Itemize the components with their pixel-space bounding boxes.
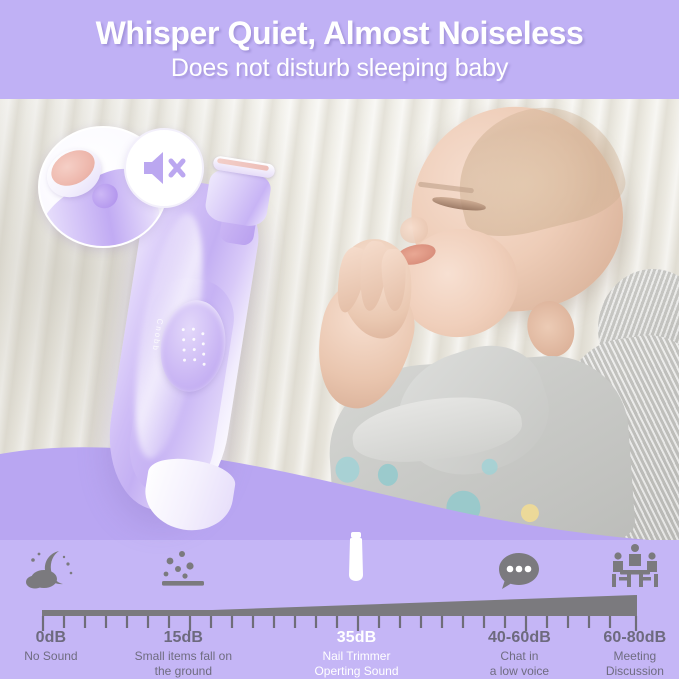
- trimmer-base: [140, 454, 238, 537]
- page-subtitle: Does not disturb sleeping baby: [171, 55, 508, 83]
- scale-db-value: 15dB: [103, 628, 263, 648]
- nail-trimmer-icon: [345, 531, 367, 598]
- scale-ruler: [0, 590, 679, 632]
- scale-db-value: 60-80dB: [555, 628, 679, 648]
- scale-label-row: 0dB No Sound 15dB Small items fall onthe…: [0, 628, 679, 679]
- scale-label-meeting: 60-80dB MeetingDiscussion: [555, 628, 679, 679]
- scale-label-nail-trimmer: 35dB Nail TrimmerOperting Sound: [276, 628, 436, 679]
- scale-db-desc: Small items fall onthe ground: [103, 649, 263, 679]
- scale-icon-row: [0, 532, 679, 598]
- decibel-scale: 0dB No Sound 15dB Small items fall onthe…: [0, 532, 679, 679]
- mute-badge: [124, 128, 204, 208]
- page-title: Whisper Quiet, Almost Noiseless: [96, 17, 584, 50]
- mute-speaker-icon: [140, 148, 188, 188]
- scale-db-desc: MeetingDiscussion: [555, 649, 679, 679]
- trimmer-dial-texture: [174, 324, 214, 373]
- header-banner: Whisper Quiet, Almost Noiseless Does not…: [0, 0, 679, 99]
- product-detail-inset: [38, 126, 208, 246]
- scale-db-value: 35dB: [276, 628, 436, 648]
- scale-db-desc: Nail TrimmerOperting Sound: [276, 649, 436, 679]
- product-infographic: Whisper Quiet, Almost Noiseless Does not…: [0, 0, 679, 679]
- scale-label-small-items: 15dB Small items fall onthe ground: [103, 628, 263, 679]
